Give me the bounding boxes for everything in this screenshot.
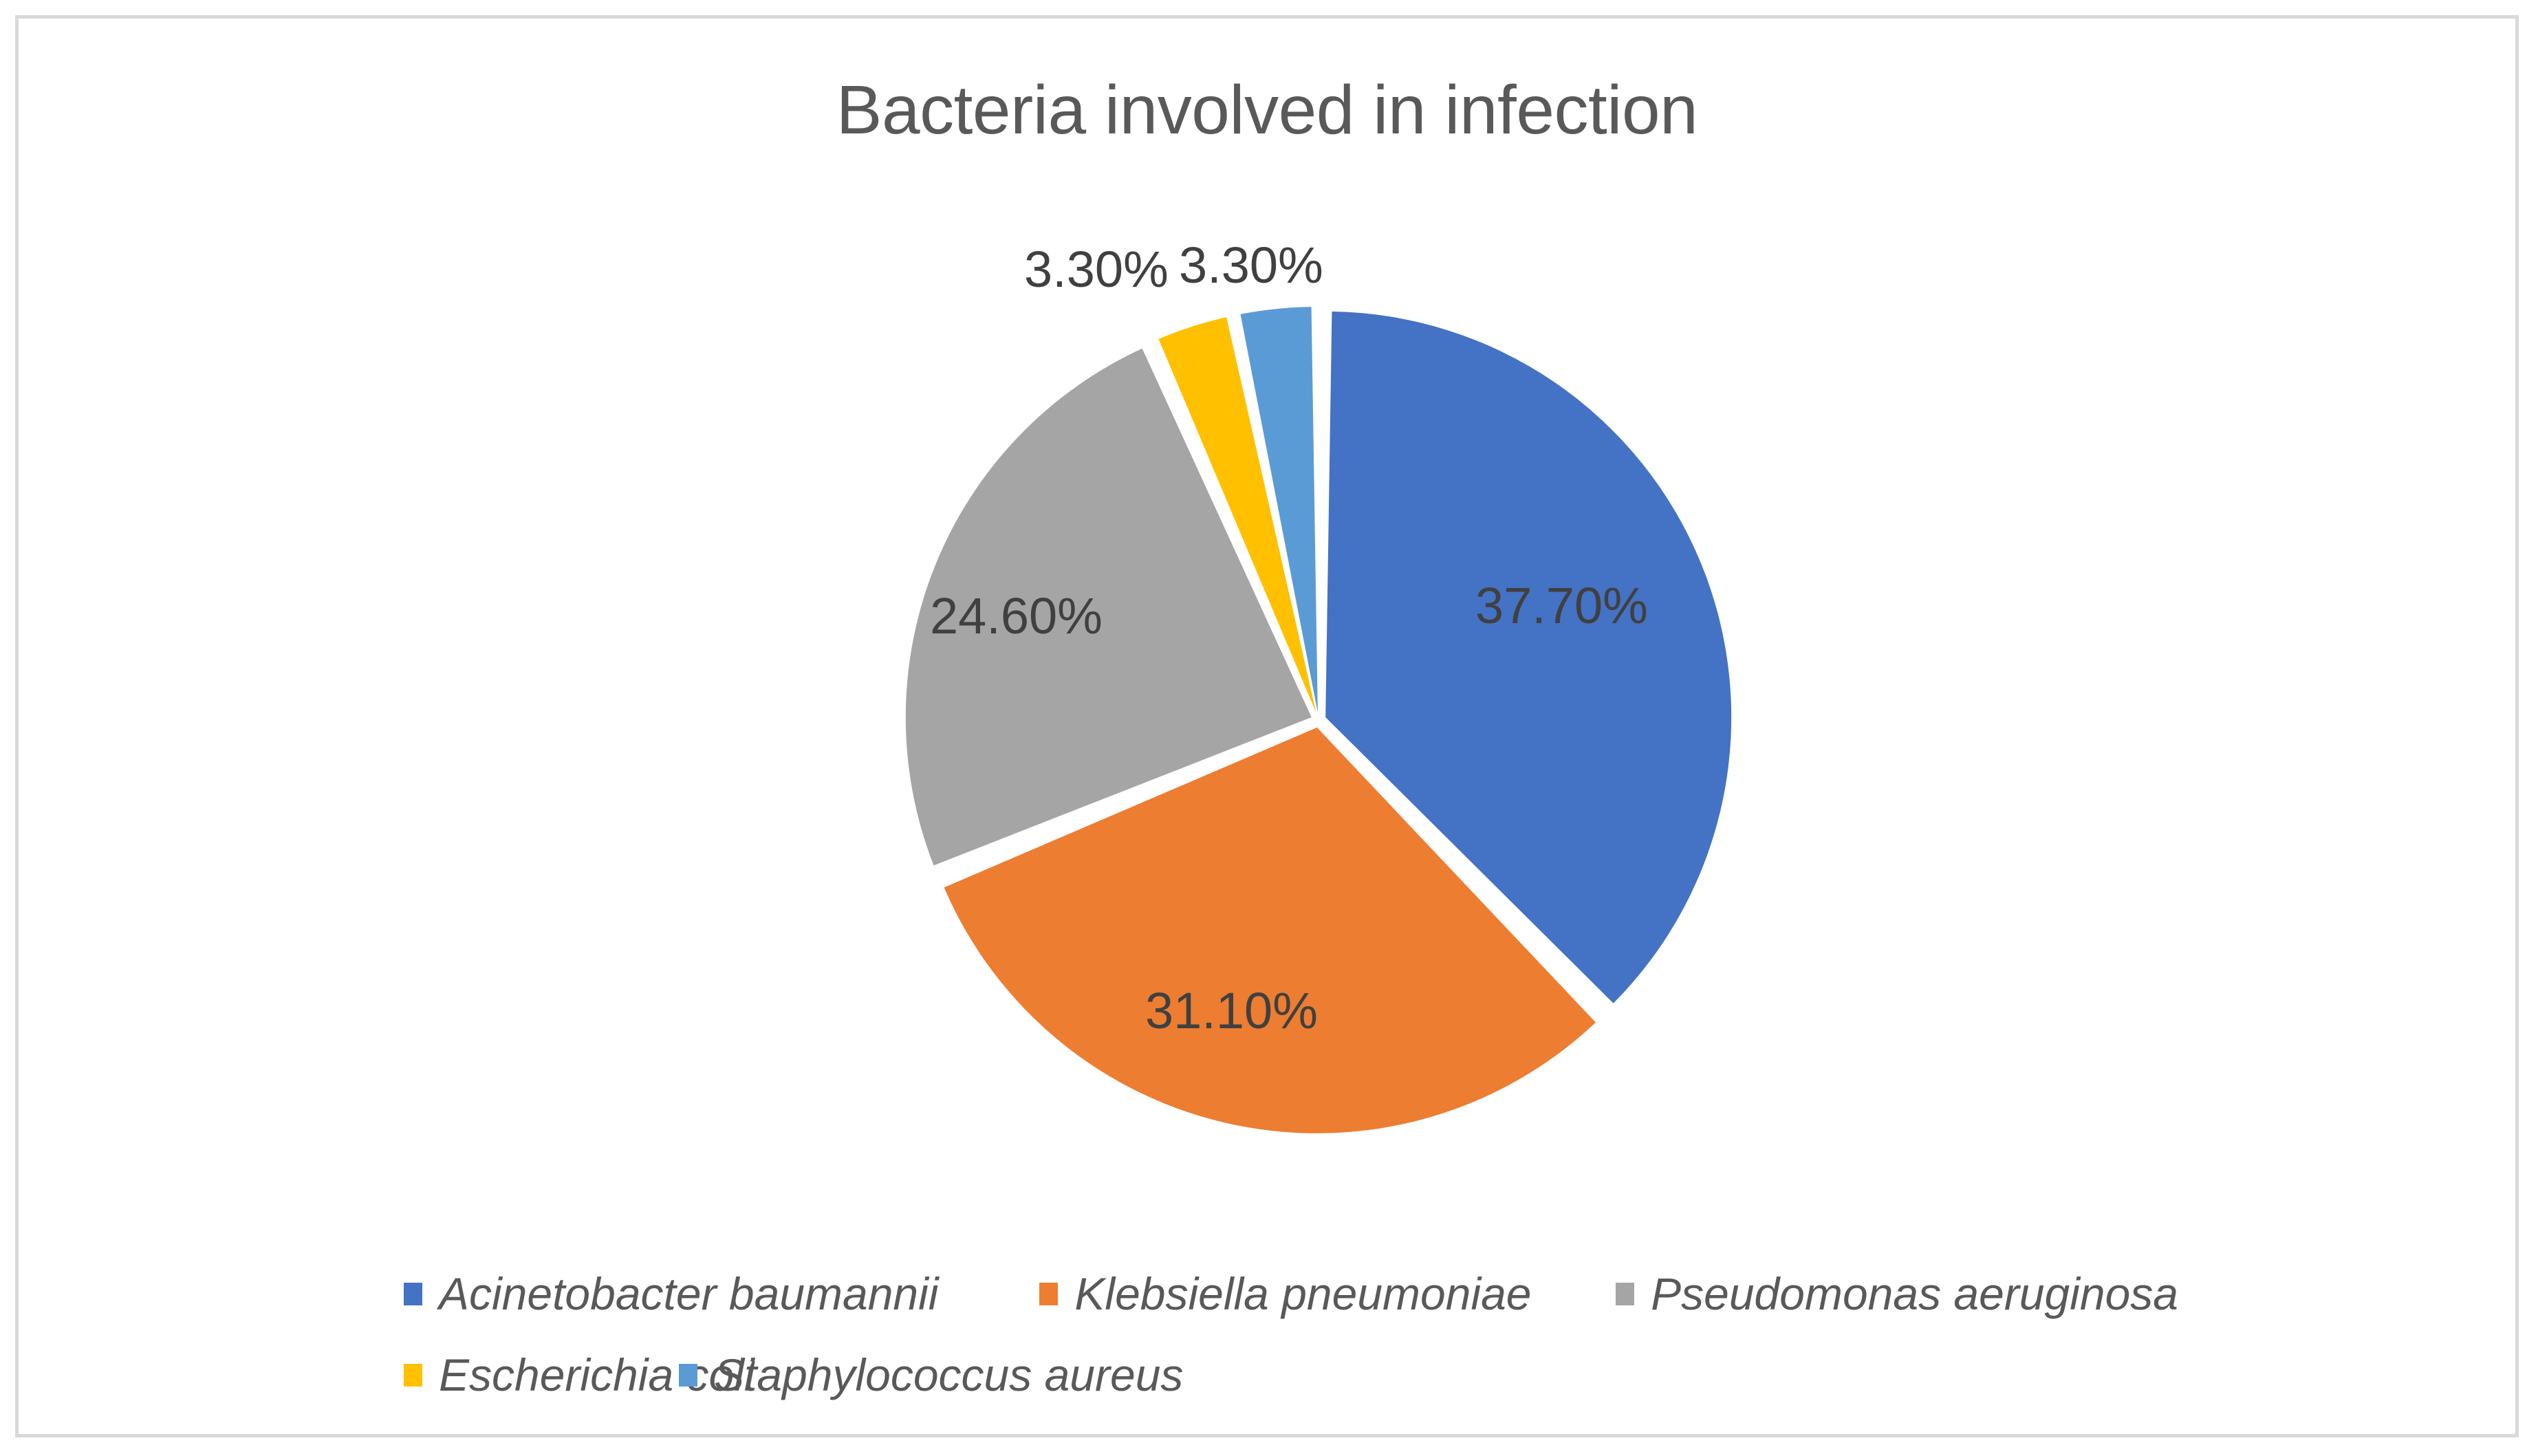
pie-plot-area: 37.70% 31.10% 24.60% 3.30% 3.30% [19, 19, 2538, 1222]
data-label-pseudomonas-aeruginosa: 24.60% [930, 591, 1103, 642]
chart-frame: Bacteria involved in infection 37.70% 31… [15, 15, 2519, 1437]
legend-item-klebsiella-pneumoniae[interactable]: Klebsiella pneumoniae [1039, 1253, 1616, 1334]
legend-swatch-icon [404, 1283, 422, 1305]
chart-legend: Acinetobacter baumannii Klebsiella pneum… [404, 1253, 2178, 1415]
legend-swatch-icon [1616, 1283, 1634, 1305]
data-label-staphylococcus-aureus: 3.30% [1179, 240, 1323, 291]
legend-label: Staphylococcus aureus [714, 1352, 1183, 1398]
legend-swatch-icon [1039, 1283, 1058, 1305]
legend-swatch-icon [679, 1364, 697, 1387]
legend-label: Pseudomonas aeruginosa [1651, 1271, 2178, 1316]
data-label-escherichia-coli: 3.30% [1024, 244, 1169, 295]
legend-item-pseudomonas-aeruginosa[interactable]: Pseudomonas aeruginosa [1616, 1253, 2178, 1334]
legend-label: Acinetobacter baumannii [439, 1271, 938, 1316]
pie-chart [844, 259, 1793, 1181]
legend-row-2: Escherichia coli Staphylococcus aureus [404, 1334, 2178, 1415]
legend-item-escherichia-coli[interactable]: Escherichia coli [404, 1334, 679, 1415]
legend-label: Klebsiella pneumoniae [1074, 1271, 1531, 1316]
data-label-klebsiella-pneumoniae: 31.10% [1145, 986, 1318, 1036]
legend-swatch-icon [404, 1364, 422, 1387]
legend-item-staphylococcus-aureus[interactable]: Staphylococcus aureus [679, 1334, 1183, 1415]
data-label-acinetobacter-baumannii: 37.70% [1475, 580, 1648, 631]
legend-item-acinetobacter-baumannii[interactable]: Acinetobacter baumannii [404, 1253, 1039, 1334]
legend-row-1: Acinetobacter baumannii Klebsiella pneum… [404, 1253, 2178, 1334]
